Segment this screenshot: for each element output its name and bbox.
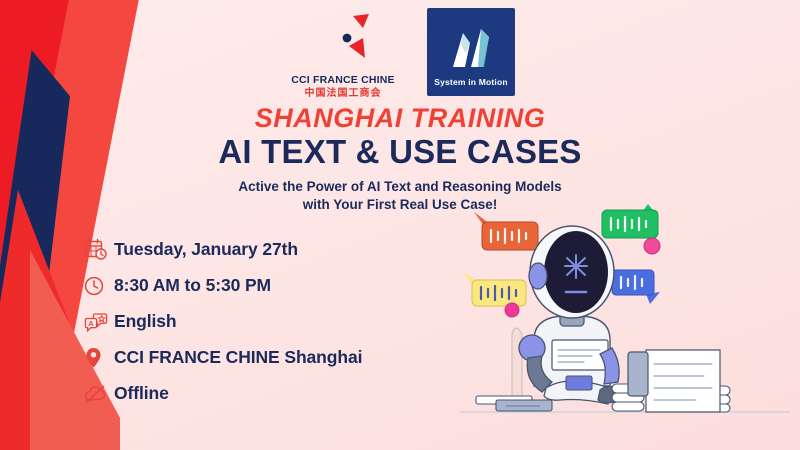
detail-row-date: Tuesday, January 27th: [84, 234, 434, 265]
ai-robot-illustration: [460, 200, 800, 450]
cci-france-chine-logo: CCI FRANCE CHINE 中国法国工商会: [285, 8, 401, 100]
system-in-motion-mark: [443, 23, 499, 73]
system-in-motion-logo: System in Motion: [427, 8, 515, 96]
speech-bubble-blue: [612, 270, 660, 304]
offline-icon: [84, 381, 114, 407]
speech-bubble-green: [602, 204, 660, 254]
detail-label-location: CCI FRANCE CHINE Shanghai: [114, 347, 362, 368]
speech-bubble-yellow: [462, 272, 526, 317]
poster-title: AI TEXT & USE CASES: [0, 133, 800, 171]
cci-logo-label-cn: 中国法国工商会: [285, 84, 401, 99]
svg-text:A: A: [88, 319, 94, 328]
detail-row-language: A English: [84, 306, 434, 337]
location-pin-icon: [84, 345, 114, 371]
detail-label-time: 8:30 AM to 5:30 PM: [114, 275, 271, 296]
poster-description-line-1: Active the Power of AI Text and Reasonin…: [0, 178, 800, 195]
clock-icon: [84, 273, 114, 299]
cci-logo-mark: [285, 8, 401, 74]
poster-eyebrow: SHANGHAI TRAINING: [0, 104, 800, 132]
detail-row-format: Offline: [84, 378, 434, 409]
pink-dot-left: [505, 303, 519, 317]
detail-label-language: English: [114, 311, 177, 332]
logo-row: CCI FRANCE CHINE 中国法国工商会 System in Motio…: [0, 8, 800, 108]
headline-block: SHANGHAI TRAINING AI TEXT & USE CASES Ac…: [0, 104, 800, 213]
event-details-list: Tuesday, January 27th 8:30 AM to 5:30 PM…: [84, 234, 434, 414]
detail-row-time: 8:30 AM to 5:30 PM: [84, 270, 434, 301]
detail-label-date: Tuesday, January 27th: [114, 239, 298, 260]
translate-icon: A: [84, 309, 114, 335]
calendar-clock-icon: [84, 237, 114, 263]
system-in-motion-label: System in Motion: [434, 77, 508, 87]
event-poster: CCI FRANCE CHINE 中国法国工商会 System in Motio…: [0, 0, 800, 450]
detail-label-format: Offline: [114, 383, 169, 404]
speech-bubble-orange: [474, 212, 538, 250]
pink-dot-right: [644, 238, 660, 254]
detail-row-location: CCI FRANCE CHINE Shanghai: [84, 342, 434, 373]
